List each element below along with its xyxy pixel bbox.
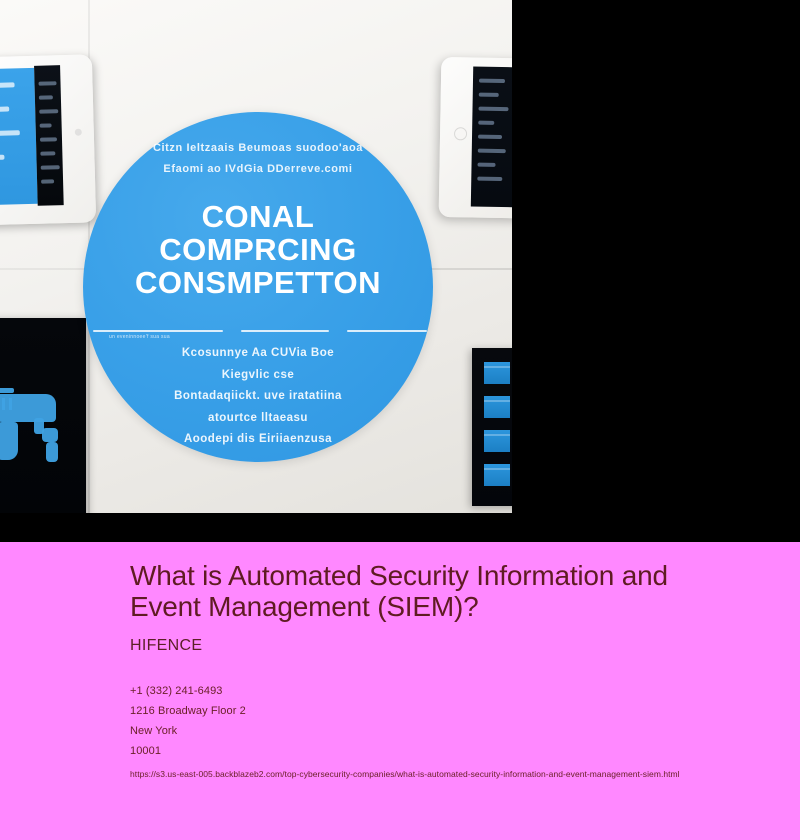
badge-tiny-label: un eveninnoee'f sua sua (109, 334, 170, 340)
badge-top-line-2: Efaomi ao IVdGia DDerreve.comi (163, 163, 352, 175)
right-tablet-screen (471, 67, 512, 208)
world-map-screen (0, 318, 86, 513)
right-tablet-home-button (454, 127, 467, 140)
badge-sub-line-4: atourtce lltaeasu (83, 413, 433, 425)
page-title: What is Automated Security Information a… (130, 560, 730, 623)
badge-heading-line-2: COMPRCING (135, 233, 381, 266)
badge-top-line-1: Citzn Ieltzaais Beumoas suodoo'aoa (153, 142, 363, 154)
badge-sub-line-2: Kiegvlic cse (83, 370, 433, 382)
badge-sub-line-1: Kcosunnye Aa CUVia Boe (83, 348, 433, 360)
badge-heading-line-3: CONSMPETTON (135, 266, 381, 299)
badge-sub-line-3: Bontadaqiickt. uve iratatiina (83, 391, 433, 403)
left-phone-home-dot (75, 129, 82, 136)
badge-heading: CONAL COMPRCING CONSMPETTON (135, 200, 381, 299)
source-url[interactable]: https://s3.us-east-005.backblazeb2.com/t… (130, 766, 800, 783)
brand-name: HIFENCE (130, 637, 790, 655)
info-panel: What is Automated Security Information a… (0, 542, 800, 840)
contact-street: 1216 Broadway Floor 2 (130, 701, 790, 721)
contact-zip: 10001 (130, 741, 790, 761)
contact-city: New York (130, 721, 790, 741)
dashboard-screen (472, 348, 512, 506)
contact-phone: +1 (332) 241-6493 (130, 681, 790, 701)
badge-heading-line-1: CONAL (135, 200, 381, 233)
blue-circle-badge: Citzn Ieltzaais Beumoas suodoo'aoa Efaom… (83, 112, 433, 462)
cybersecurity-desk-photo: Citzn Ieltzaais Beumoas suodoo'aoa Efaom… (0, 0, 512, 513)
page-root: Citzn Ieltzaais Beumoas suodoo'aoa Efaom… (0, 0, 800, 840)
info-content: What is Automated Security Information a… (130, 560, 790, 783)
tablet-device-right (439, 57, 512, 219)
left-phone-dark-screen (34, 65, 64, 206)
left-phone-blue-screen (0, 68, 38, 206)
contact-block: +1 (332) 241-6493 1216 Broadway Floor 2 … (130, 681, 790, 761)
badge-divider-rules (83, 330, 433, 334)
hero-image-area: Citzn Ieltzaais Beumoas suodoo'aoa Efaom… (0, 0, 800, 542)
badge-sub-text: Kcosunnye Aa CUVia Boe Kiegvlic cse Bont… (83, 348, 433, 456)
tablet-device-left (0, 54, 96, 225)
badge-sub-line-5: Aoodepi dis Eiriiaenzusa (83, 434, 433, 446)
